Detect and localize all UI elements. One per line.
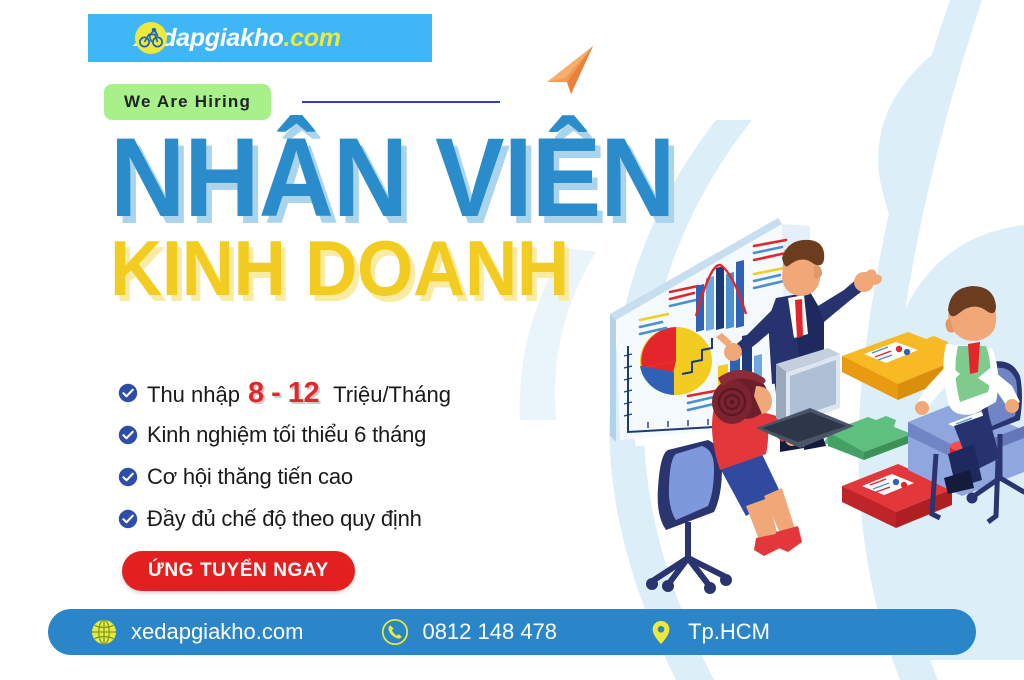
page-title: NHÂN VIÊN KINH DOANH (110, 126, 640, 305)
recruitment-banner: xedapgiakho.com We Are Hiring NHÂN VIÊN … (0, 0, 1024, 680)
contact-website[interactable]: xedapgiakho.com (90, 618, 303, 646)
header-divider-line (302, 101, 500, 103)
salary-row: Thu nhập 8 - 12 Triệu/Tháng (147, 377, 451, 410)
contact-phone[interactable]: 0812 148 478 (381, 618, 557, 646)
hiring-badge-label: We Are Hiring (124, 92, 251, 112)
contact-bar: xedapgiakho.com 0812 148 478 Tp.HCM (48, 609, 976, 655)
check-circle-icon (118, 509, 138, 529)
brand-name-tld: .com (284, 24, 341, 52)
contact-phone-value: 0812 148 478 (422, 619, 557, 645)
check-circle-icon (118, 467, 138, 487)
apply-now-button[interactable]: ỨNG TUYỂN NGAY (122, 551, 355, 591)
list-item: Cơ hội thăng tiến cao (118, 456, 598, 498)
headline-line-2: KINH DOANH (110, 233, 603, 305)
business-team-illustration (596, 196, 1024, 596)
apply-now-label: ỨNG TUYỂN NGAY (148, 560, 329, 582)
bicycle-icon (135, 22, 167, 54)
check-circle-icon (118, 383, 138, 403)
salary-amount: 8 - 12 (248, 377, 319, 410)
map-pin-icon (647, 618, 675, 646)
benefits-list: Thu nhập 8 - 12 Triệu/Tháng Kinh nghiệm … (118, 372, 598, 540)
list-item-label: Kinh nghiệm tối thiểu 6 tháng (147, 422, 426, 448)
list-item: Kinh nghiệm tối thiểu 6 tháng (118, 414, 598, 456)
contact-location: Tp.HCM (647, 618, 770, 646)
brand-logo-bar[interactable]: xedapgiakho.com (88, 14, 432, 62)
salary-unit: Triệu/Tháng (333, 382, 451, 408)
salary-prefix: Thu nhập (147, 382, 240, 408)
globe-icon (90, 618, 118, 646)
contact-website-value: xedapgiakho.com (131, 619, 303, 645)
list-item: Đầy đủ chế độ theo quy định (118, 498, 598, 540)
headline-line-1: NHÂN VIÊN (110, 126, 603, 229)
list-item: Thu nhập 8 - 12 Triệu/Tháng (118, 372, 598, 414)
list-item-label: Đầy đủ chế độ theo quy định (147, 506, 422, 532)
list-item-label: Cơ hội thăng tiến cao (147, 464, 353, 490)
paper-plane-icon (543, 44, 599, 100)
phone-icon (381, 618, 409, 646)
contact-location-value: Tp.HCM (688, 619, 770, 645)
check-circle-icon (118, 425, 138, 445)
